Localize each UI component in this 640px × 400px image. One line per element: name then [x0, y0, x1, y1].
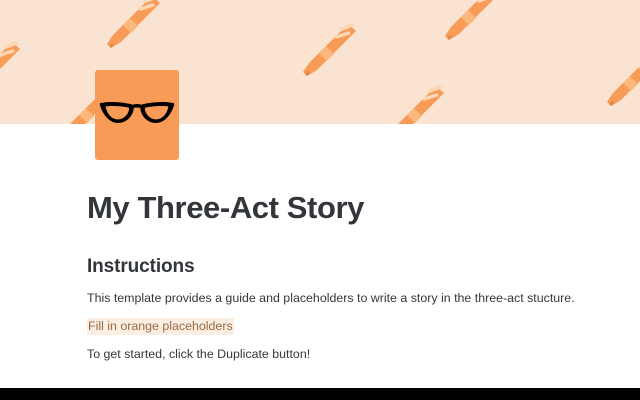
page-icon-glasses[interactable]: [95, 70, 179, 160]
section-heading-instructions[interactable]: Instructions: [87, 226, 600, 280]
paragraph-highlighted[interactable]: Fill in orange placeholders: [87, 307, 600, 336]
bottom-viewport-bar: [0, 388, 640, 400]
document-body: My Three-Act Story Instructions This tem…: [0, 160, 640, 400]
glasses-icon: [95, 92, 179, 138]
paragraph-get-started[interactable]: To get started, click the Duplicate butt…: [87, 336, 600, 364]
paragraph-template-description[interactable]: This template provides a guide and place…: [87, 280, 600, 308]
page-title[interactable]: My Three-Act Story: [87, 160, 600, 226]
highlighted-text: Fill in orange placeholders: [87, 318, 234, 335]
page-root: My Three-Act Story Instructions This tem…: [0, 0, 640, 400]
